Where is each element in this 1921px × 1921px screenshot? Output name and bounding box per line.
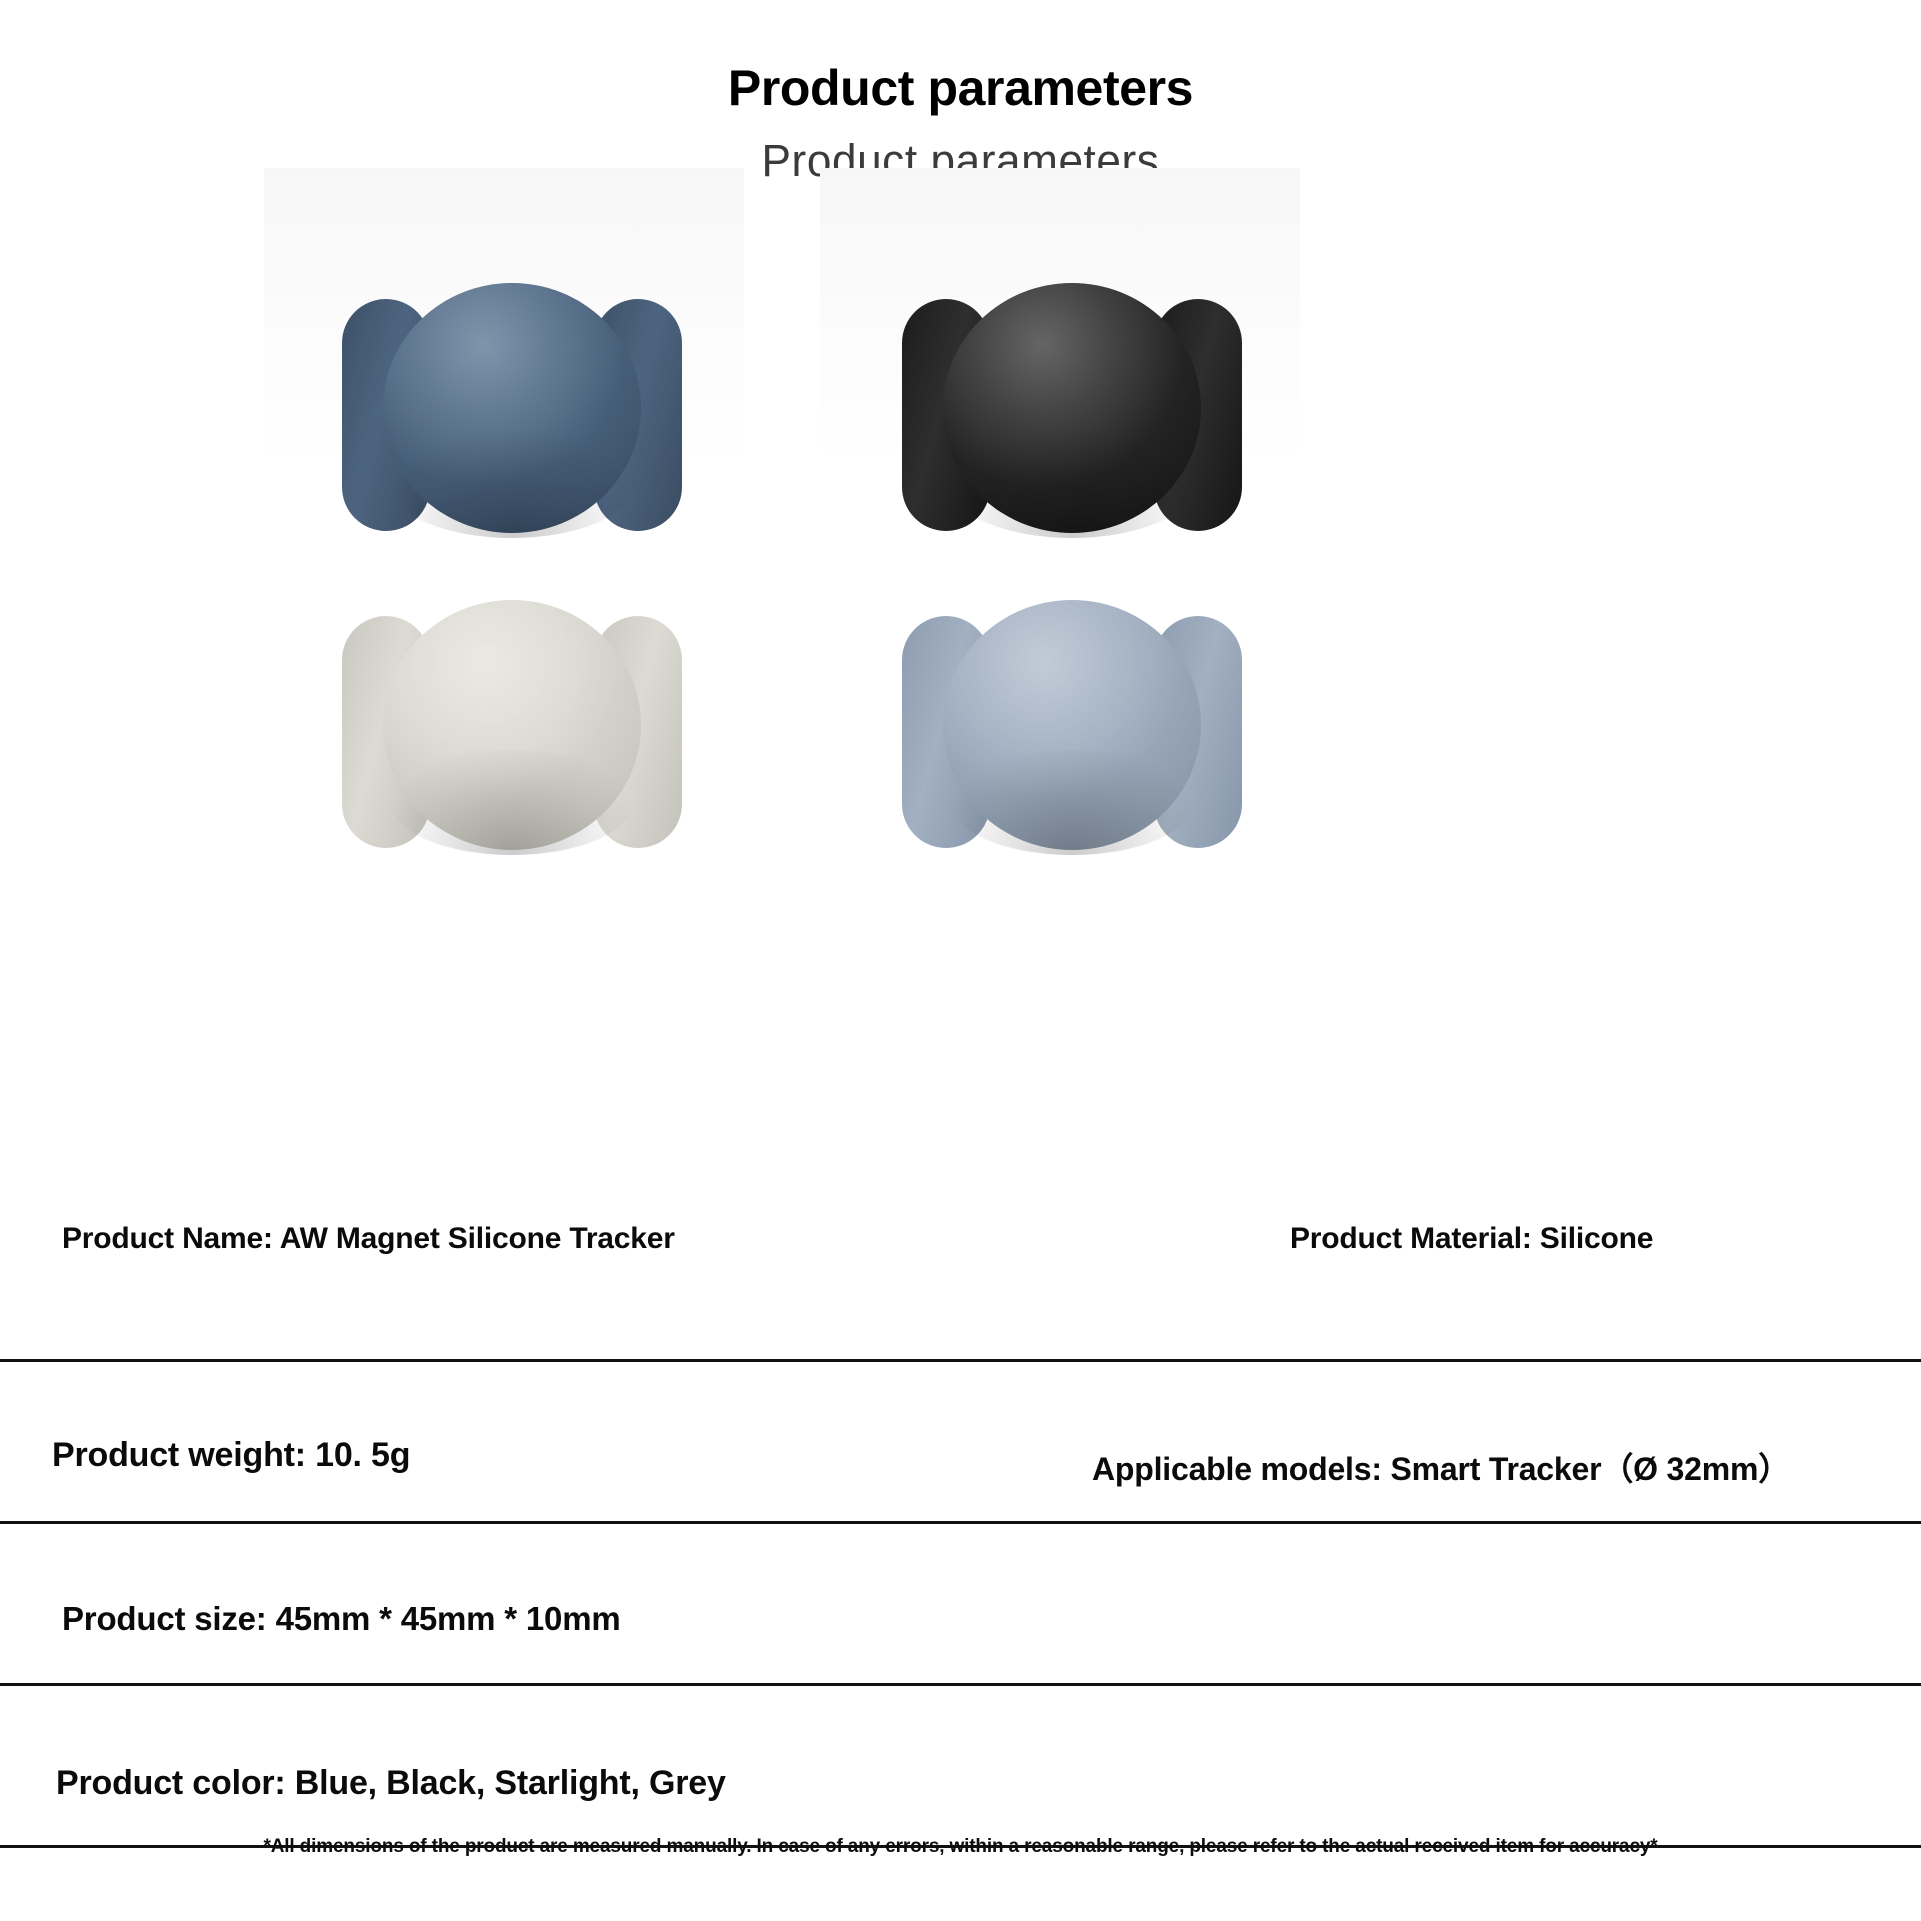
spec-product-weight: Product weight: 10. 5g xyxy=(52,1436,410,1475)
center-dome-icon xyxy=(383,283,641,533)
product-image-black xyxy=(872,273,1272,573)
tracker-case-blue xyxy=(332,273,692,533)
measurement-disclaimer: *All dimensions of the product are measu… xyxy=(0,1836,1921,1858)
spec-product-size: Product size: 45mm * 45mm * 10mm xyxy=(62,1600,621,1638)
tracker-case-grey xyxy=(892,590,1252,850)
page-header: Product parameters Product parameters xyxy=(0,0,1921,184)
page-title: Product parameters xyxy=(0,62,1921,115)
center-dome-icon xyxy=(943,600,1201,850)
product-image-blue xyxy=(312,273,712,573)
spec-product-color: Product color: Blue, Black, Starlight, G… xyxy=(56,1764,726,1803)
tracker-case-starlight xyxy=(332,590,692,850)
spec-product-material: Product Material: Silicone xyxy=(1290,1222,1653,1256)
product-image-starlight xyxy=(312,590,712,890)
center-dome-icon xyxy=(383,600,641,850)
spec-row: Product size: 45mm * 45mm * 10mm xyxy=(0,1524,1921,1686)
spec-product-name: Product Name: AW Magnet Silicone Tracker xyxy=(62,1222,675,1256)
tracker-case-black xyxy=(892,273,1252,533)
product-parameters-page: Product parameters Product parameters xyxy=(0,0,1921,1921)
spec-applicable-models: Applicable models: Smart Tracker（Ø 32mm） xyxy=(1092,1444,1790,1490)
product-gallery xyxy=(0,168,1921,928)
spec-row: Product color: Blue, Black, Starlight, G… xyxy=(0,1686,1921,1848)
spec-table: Product Name: AW Magnet Silicone Tracker… xyxy=(0,1200,1921,1848)
spec-row: Product weight: 10. 5g Applicable models… xyxy=(0,1362,1921,1524)
center-dome-icon xyxy=(943,283,1201,533)
spec-row: Product Name: AW Magnet Silicone Tracker… xyxy=(0,1200,1921,1362)
product-image-grey xyxy=(872,590,1272,890)
